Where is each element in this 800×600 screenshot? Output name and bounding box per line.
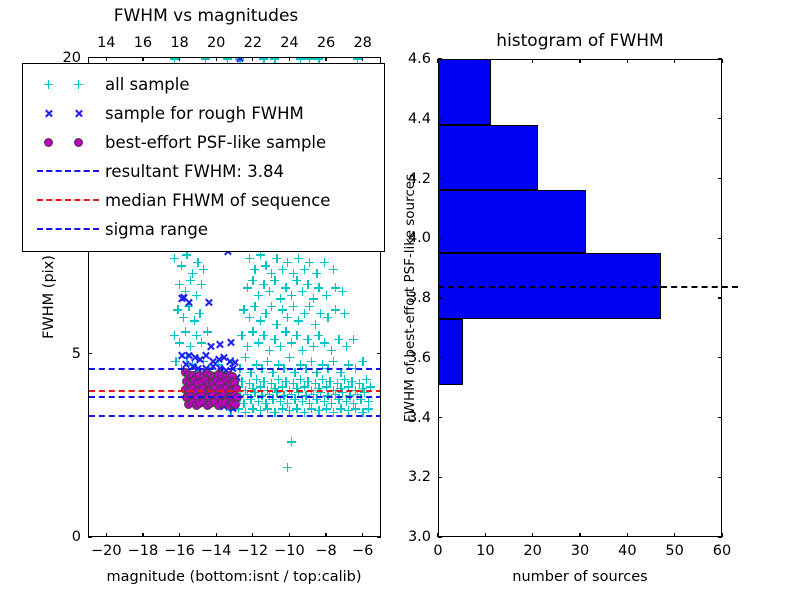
scatter-point-all [243,342,252,351]
hist-xtick-top [721,59,722,63]
scatter-point-all [329,357,338,366]
scatter-point-all [305,258,314,267]
scatter-point-all [349,335,358,344]
hist-xtick-top [532,59,533,63]
xtick-bottom [362,533,363,537]
scatter-point-all [241,353,250,362]
hist-ytick [438,417,442,418]
scatter-point-all [331,305,340,314]
hist-xtick [627,533,628,537]
hist-xtick [674,533,675,537]
hist-ytick-right [718,58,722,59]
hist-x-ticklabel: 0 [433,544,442,559]
scatter-point-all [272,254,281,263]
hist-x-ticklabel: 20 [523,544,541,559]
scatter-point-all [285,353,294,362]
scatter-point-all [272,320,281,329]
x-top-ticklabel: 20 [207,36,225,51]
scatter-point-all [250,265,259,274]
scatter-point-rough [179,293,188,302]
legend-row: sigma range [31,215,208,243]
scatter-point-all [186,276,195,285]
x-top-ticklabel: 26 [317,36,335,51]
scatter-point-all [292,331,301,340]
hist-xtick-top [437,59,438,63]
scatter-point-all [283,463,292,472]
left-panel-title: FWHM vs magnitudes [114,8,299,25]
x-ticklabel: −8 [315,544,336,559]
scatter-point-all [175,338,184,347]
right-panel-xlabel: number of sources [512,570,648,585]
hist-ytick [438,297,442,298]
xtick-bottom [142,533,143,537]
scatter-point-all [265,287,274,296]
hist-ytick-right [718,118,722,119]
scatter-point-all [237,331,246,340]
x-top-ticklabel: 14 [97,36,115,51]
ytick-right [377,536,381,537]
sigma-range-lower-line [89,415,380,417]
legend-sample [31,128,105,156]
scatter-point-all [270,276,279,285]
scatter-point-rough [204,298,213,307]
scatter-point-all [322,291,331,300]
xtick-top [106,57,107,61]
scatter-point-all [287,291,296,300]
x-top-ticklabel: 16 [134,36,152,51]
legend-row: sample for rough FWHM [31,99,304,127]
scatter-point-all [340,309,349,318]
scatter-point-all [312,269,321,278]
hist-ytick [438,536,442,537]
hist-ytick-right [718,297,722,298]
cross-icon [44,109,53,118]
hist-xtick-top [579,59,580,63]
resultant-fwhm-line [89,396,380,398]
hist-x-ticklabel: 50 [665,544,683,559]
legend-label: resultant FWHM: 3.84 [105,162,284,181]
hist-y-ticklabel: 4.6 [408,52,431,67]
ytick [88,353,92,354]
left-panel-xlabel: magnitude (bottom:isnt / top:calib) [106,570,361,585]
scatter-point-all [248,327,257,336]
y-ticklabel: 0 [72,530,81,545]
right-panel-title: histogram of FWHM [496,33,663,50]
hist-xtick-top [627,59,628,63]
scatter-point-all [281,327,290,336]
legend-row: all sample [31,70,190,98]
scatter-point-all [287,437,296,446]
scatter-point-all [298,346,307,355]
cross-icon [74,109,83,118]
scatter-point-all [254,291,263,300]
xtick-top [325,57,326,61]
scatter-point-all [283,258,292,267]
x-ticklabel: −20 [91,544,122,559]
scatter-point-all [364,404,373,413]
left-panel-ylabel: FWHM (pix) [42,255,57,339]
legend-label: best-effort PSF-like sample [105,133,326,152]
hist-xtick-top [485,59,486,63]
hist-xtick [579,533,580,537]
scatter-point-all [311,320,320,329]
scatter-point-all [305,302,314,311]
hist-y-ticklabel: 3.0 [408,530,431,545]
hist-ytick [438,58,442,59]
median-fwhm-line [89,390,380,392]
x-ticklabel: −14 [201,544,232,559]
plus-icon [74,80,83,89]
scatter-point-all [259,331,268,340]
legend-label: all sample [105,75,190,94]
resultant-fwhm-hist-line [438,286,738,288]
scatter-point-all [292,276,301,285]
xtick-top [289,57,290,61]
hist-ytick-right [718,417,722,418]
xtick-bottom [325,533,326,537]
legend-label: sigma range [105,220,208,239]
scatter-point-all [358,357,367,366]
hist-xtick-top [674,59,675,63]
x-ticklabel: −16 [164,544,195,559]
x-top-ticklabel: 24 [280,36,298,51]
hist-ytick-right [718,477,722,478]
scatter-point-all [245,254,254,263]
hist-ytick-right [718,238,722,239]
scatter-point-psf [231,400,240,409]
ytick [88,536,92,537]
circle-icon [44,138,53,147]
sigma-range-upper-line [89,368,380,370]
x-ticklabel: −6 [352,544,373,559]
scatter-point-all [276,342,285,351]
hist-xtick [485,533,486,537]
figure-canvas: FWHM vs magnitudes −20−18−16−14−12−10−8−… [0,0,800,600]
hist-ytick [438,477,442,478]
scatter-point-all [177,261,186,270]
hist-xtick [532,533,533,537]
scatter-point-all [179,313,188,322]
x-ticklabel: −18 [128,544,159,559]
legend-row: median FHWM of sequence [31,186,330,214]
xtick-bottom [216,533,217,537]
scatter-point-all [289,302,298,311]
histogram-overlay-area [439,60,739,536]
scatter-point-all [195,309,204,318]
legend-row: best-effort PSF-like sample [31,128,326,156]
x-top-ticklabel: 28 [353,36,371,51]
xtick-bottom [106,533,107,537]
dashed-line-icon [37,199,99,201]
scatter-point-all [329,265,338,274]
legend-sample [31,215,105,243]
scatter-point-all [265,346,274,355]
hist-x-ticklabel: 40 [618,544,636,559]
scatter-point-rough [206,342,215,351]
xtick-top [179,57,180,61]
scatter-point-all [276,294,285,303]
scatter-point-all [294,254,303,263]
scatter-point-all [307,357,316,366]
scatter-point-all [197,338,206,347]
scatter-point-all [327,346,336,355]
hist-x-ticklabel: 60 [713,544,731,559]
x-ticklabel: −10 [274,544,305,559]
x-top-ticklabel: 18 [170,36,188,51]
xtick-bottom [252,533,253,537]
scatter-point-all [338,287,347,296]
xtick-top [216,57,217,61]
xtick-top [142,57,143,61]
hist-ytick [438,357,442,358]
scatter-point-rough [226,338,235,347]
hist-ytick-right [718,536,722,537]
hist-ytick [438,238,442,239]
x-top-ticklabel: 22 [244,36,262,51]
scatter-point-all [263,357,272,366]
hist-x-ticklabel: 10 [476,544,494,559]
circle-icon [74,138,83,147]
legend-sample [31,99,105,127]
scatter-point-all [199,265,208,274]
scatter-point-all [267,302,276,311]
scatter-point-all [186,342,195,351]
plus-icon [44,80,53,89]
xtick-bottom [179,533,180,537]
y-ticklabel: 5 [72,347,81,362]
scatter-point-all [309,342,318,351]
xtick-top [252,57,253,61]
hist-ytick-right [718,178,722,179]
xtick-bottom [289,533,290,537]
scatter-point-all [245,313,254,322]
hist-ytick [438,178,442,179]
xtick-top [362,57,363,61]
hist-x-ticklabel: 30 [571,544,589,559]
dashdot-line-icon [37,228,99,230]
right-panel-ylabel: FWHM of best-effort PSF-like sources [404,174,418,422]
scatter-point-all [181,327,190,336]
hist-y-ticklabel: 3.2 [408,470,431,485]
legend-sample [31,70,105,98]
hist-ytick [438,118,442,119]
legend-label: median FHWM of sequence [105,191,330,210]
scatter-point-all [197,280,206,289]
legend: all samplesample for rough FWHMbest-effo… [22,63,385,252]
x-ticklabel: −12 [238,544,269,559]
scatter-point-all [248,276,257,285]
scatter-point-all [283,313,292,322]
scatter-point-rough [215,340,224,349]
legend-sample [31,186,105,214]
hist-y-ticklabel: 4.4 [408,112,431,127]
hist-ytick-right [718,357,722,358]
scatter-point-all [320,258,329,267]
scatter-point-all [303,280,312,289]
scatter-point-all [203,327,212,336]
dashed-line-icon [37,170,99,172]
legend-sample [31,157,105,185]
legend-label: sample for rough FWHM [105,104,304,123]
legend-row: resultant FWHM: 3.84 [31,157,284,185]
ytick-right [377,353,381,354]
scatter-point-all [250,302,259,311]
